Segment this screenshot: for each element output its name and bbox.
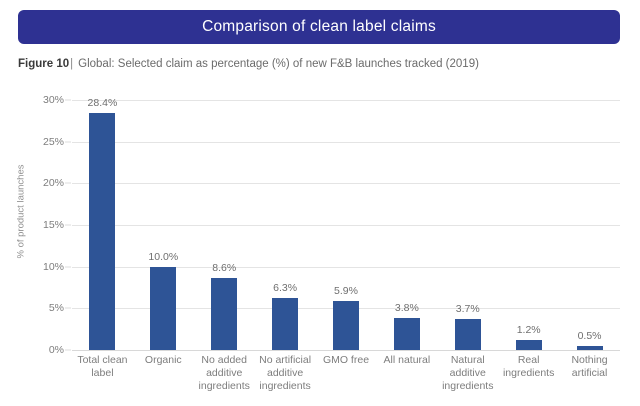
- x-axis-labels: Total cleanlabelOrganicNo addedadditivei…: [72, 354, 620, 406]
- bar-value-label: 3.7%: [456, 303, 480, 315]
- figure-caption: Figure 10|Global: Selected claim as perc…: [18, 59, 479, 71]
- gridline: [72, 350, 620, 351]
- page-title: Comparison of clean label claims: [202, 19, 436, 35]
- bar[interactable]: [211, 278, 237, 350]
- x-axis-tick-label: GMO free: [316, 354, 377, 367]
- bar-value-label: 0.5%: [578, 330, 602, 342]
- y-axis-tick-mark: [65, 266, 71, 267]
- bar-slot: 8.6%: [194, 100, 255, 350]
- x-axis-tick-label: Organic: [133, 354, 194, 367]
- y-axis-tick-label: 25%: [43, 136, 64, 148]
- x-axis-tick-label: Realingredients: [498, 354, 559, 380]
- bar-slot: 3.8%: [376, 100, 437, 350]
- bar-series: 28.4%10.0%8.6%6.3%5.9%3.8%3.7%1.2%0.5%: [72, 100, 620, 350]
- y-axis-tick-label: 30%: [43, 94, 64, 106]
- bar[interactable]: [455, 319, 481, 350]
- figure-separator: |: [69, 58, 78, 70]
- bar-value-label: 5.9%: [334, 285, 358, 297]
- plot-area: 0%5%10%15%20%25%30% 28.4%10.0%8.6%6.3%5.…: [72, 100, 620, 350]
- figure-caption-text: Global: Selected claim as percentage (%)…: [78, 58, 479, 70]
- bar[interactable]: [394, 318, 420, 350]
- y-axis-tick-mark: [65, 141, 71, 142]
- bar[interactable]: [516, 340, 542, 350]
- y-axis-title: % of product launches: [16, 147, 27, 277]
- x-axis-tick-label: No addedadditiveingredients: [194, 354, 255, 393]
- bar-slot: 28.4%: [72, 100, 133, 350]
- bar-value-label: 1.2%: [517, 324, 541, 336]
- x-axis-tick-label: Nothingartificial: [559, 354, 620, 380]
- y-axis-tick-mark: [65, 308, 71, 309]
- y-axis-tick-mark: [65, 183, 71, 184]
- bar-value-label: 10.0%: [148, 251, 178, 263]
- bar-slot: 1.2%: [498, 100, 559, 350]
- y-axis-tick-label: 15%: [43, 219, 64, 231]
- y-axis-tick-mark: [65, 350, 71, 351]
- bar-slot: 3.7%: [437, 100, 498, 350]
- bar-slot: 5.9%: [316, 100, 377, 350]
- bar[interactable]: [577, 346, 603, 350]
- y-axis-tick-label: 10%: [43, 261, 64, 273]
- bar-value-label: 28.4%: [88, 97, 118, 109]
- y-axis-tick-label: 0%: [49, 344, 64, 356]
- bar-value-label: 6.3%: [273, 282, 297, 294]
- bar[interactable]: [89, 113, 115, 350]
- bar-slot: 0.5%: [559, 100, 620, 350]
- y-axis-tick-mark: [65, 100, 71, 101]
- bar-value-label: 8.6%: [212, 262, 236, 274]
- bar-slot: 10.0%: [133, 100, 194, 350]
- bar-value-label: 3.8%: [395, 302, 419, 314]
- y-axis-tick-label: 5%: [49, 302, 64, 314]
- bar-slot: 6.3%: [255, 100, 316, 350]
- x-axis-tick-label: Naturaladditiveingredients: [437, 354, 498, 393]
- y-axis-tick-label: 20%: [43, 177, 64, 189]
- x-axis-tick-label: No artificialadditiveingredients: [255, 354, 316, 393]
- header-banner: Comparison of clean label claims: [18, 10, 620, 44]
- x-axis-tick-label: All natural: [376, 354, 437, 367]
- x-axis-tick-label: Total cleanlabel: [72, 354, 133, 380]
- y-axis-tick-mark: [65, 225, 71, 226]
- bar-chart: % of product launches 0%5%10%15%20%25%30…: [0, 88, 640, 406]
- bar[interactable]: [272, 298, 298, 351]
- bar[interactable]: [150, 267, 176, 350]
- bar[interactable]: [333, 301, 359, 350]
- figure-number: Figure 10: [18, 58, 69, 70]
